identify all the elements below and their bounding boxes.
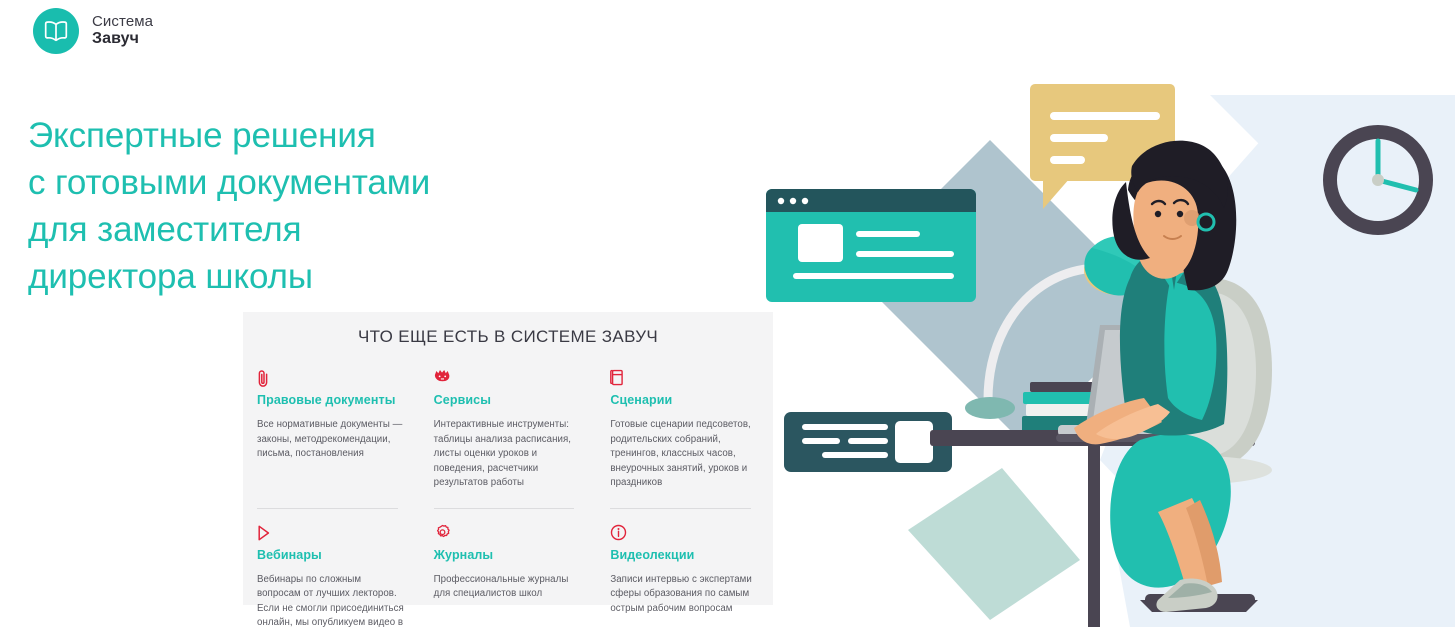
crown-icon xyxy=(434,369,583,388)
gear-icon xyxy=(434,524,583,543)
features-panel-title: ЧТО ЕЩЕ ЕСТЬ В СИСТЕМЕ ЗАВУЧ xyxy=(243,312,773,347)
feature-card-title: Видеолекции xyxy=(610,548,759,562)
feature-card-title: Журналы xyxy=(434,548,583,562)
feature-card-text: Все нормативные документы — законы, мето… xyxy=(257,418,406,462)
feature-card-title: Сценарии xyxy=(610,393,759,407)
hero-illustration xyxy=(740,0,1455,627)
feature-card-text: Интерактивные инструменты: таблицы анали… xyxy=(434,418,583,491)
feature-card-text: Готовые сценарии педсоветов, родительски… xyxy=(610,418,759,491)
brand-name-line1: Система xyxy=(92,13,153,31)
feature-card-services[interactable]: Сервисы Интерактивные инструменты: табли… xyxy=(420,369,597,491)
brand-name-line2: Завуч xyxy=(92,30,153,49)
feature-card-journals[interactable]: Журналы Профессиональные журналы для спе… xyxy=(420,508,597,627)
book-icon xyxy=(610,369,759,388)
feature-card-text: Записи интервью с экспертами сферы образ… xyxy=(610,573,759,617)
feature-card-title: Правовые документы xyxy=(257,393,406,407)
feature-card-title: Сервисы xyxy=(434,393,583,407)
play-triangle-icon xyxy=(257,524,406,543)
page-title: Экспертные решения с готовыми документам… xyxy=(28,112,430,300)
feature-card-webinars[interactable]: Вебинары Вебинары по сложным вопросам от… xyxy=(243,508,420,627)
brand-logo[interactable]: Система Завуч xyxy=(33,8,153,54)
feature-card-text: Вебинары по сложным вопросам от лучших л… xyxy=(257,573,406,627)
feature-card-legal-documents[interactable]: Правовые документы Все нормативные докум… xyxy=(243,369,420,491)
brand-name: Система Завуч xyxy=(92,13,153,50)
dark-teal-card xyxy=(784,412,952,472)
open-book-icon xyxy=(33,8,79,54)
feature-card-text: Профессиональные журналы для специалисто… xyxy=(434,573,583,602)
landing-page: Система Завуч Экспертные решения с готов… xyxy=(0,0,1455,627)
features-panel: ЧТО ЕЩЕ ЕСТЬ В СИСТЕМЕ ЗАВУЧ Правовые до… xyxy=(243,312,773,605)
info-circle-icon xyxy=(610,524,759,543)
features-grid: Правовые документы Все нормативные докум… xyxy=(243,369,773,627)
browser-window-card xyxy=(766,189,976,302)
paperclip-icon xyxy=(257,369,406,388)
feature-card-title: Вебинары xyxy=(257,548,406,562)
